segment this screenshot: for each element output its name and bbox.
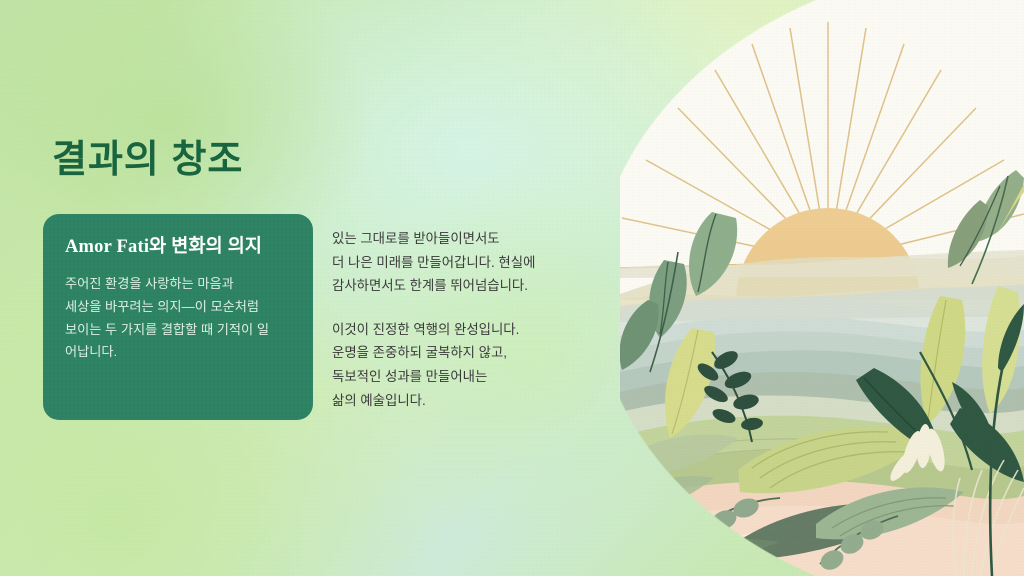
card-body-text: 주어진 환경을 사랑하는 마음과 세상을 바꾸려는 의지—이 모순처럼 보이는 …: [65, 273, 291, 364]
body-paragraph-2: 이것이 진정한 역행의 완성입니다. 운명을 존중하되 굴복하지 않고, 독보적…: [332, 318, 597, 412]
page-title: 결과의 창조: [52, 138, 243, 184]
slide-root: 결과의 창조 Amor Fati와 변화의 의지 주어진 환경을 사랑하는 마음…: [0, 0, 1024, 576]
body-text-column: 있는 그대로를 받아들이면서도 더 나은 미래를 만들어갑니다. 현실에 감사하…: [332, 227, 597, 412]
body-paragraph-1: 있는 그대로를 받아들이면서도 더 나은 미래를 만들어갑니다. 현실에 감사하…: [332, 227, 597, 298]
highlight-card: Amor Fati와 변화의 의지 주어진 환경을 사랑하는 마음과 세상을 바…: [43, 214, 313, 420]
card-heading: Amor Fati와 변화의 의지: [65, 236, 291, 259]
sunrise-landscape-illustration: [620, 0, 1024, 576]
illustration-panel: [620, 0, 1024, 576]
